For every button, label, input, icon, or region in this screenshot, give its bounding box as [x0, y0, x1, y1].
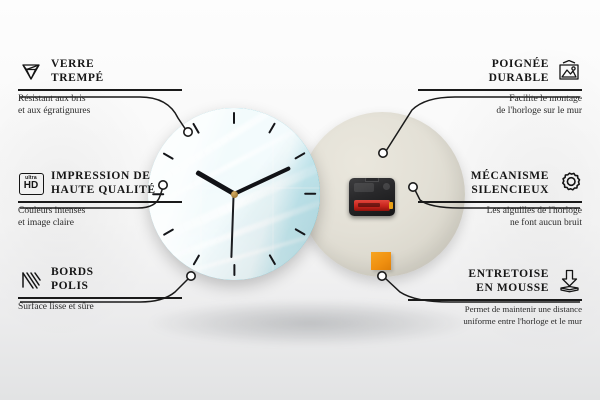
connector-dot-entretoise — [378, 272, 386, 280]
feature-title-line1: VERRE — [51, 58, 94, 70]
feature-divider — [18, 201, 182, 203]
feature-divider — [418, 89, 582, 91]
feature-poignee-durable: POIGNÉE DURABLE Facilite le montage de l… — [418, 58, 582, 117]
hd-badge: ultra HD — [19, 173, 44, 195]
feature-head: ENTRETOISE EN MOUSSE — [408, 268, 582, 295]
feature-divider — [408, 299, 582, 301]
connector-dot-bords-polis — [187, 272, 195, 280]
connector-dot-mecanisme — [409, 183, 417, 191]
diamond-icon — [18, 59, 44, 85]
feature-desc-line1: Facilite le montage — [509, 94, 582, 104]
gear-icon — [556, 171, 582, 197]
feature-divider — [18, 297, 182, 299]
feature-entretoise-en-mousse: ENTRETOISE EN MOUSSE Permet de maintenir… — [408, 268, 582, 327]
feature-title-line2: DURABLE — [489, 72, 549, 84]
feature-description: Couleurs intenses et image claire — [18, 206, 182, 229]
feature-title-line2: HAUTE QUALITÉ — [51, 184, 156, 196]
feature-description: Facilite le montage de l'horloge sur le … — [418, 94, 582, 117]
feature-title-line1: POIGNÉE — [492, 58, 549, 70]
picture-hanger-icon — [556, 59, 582, 85]
connector-dot-verre-trempe — [184, 128, 192, 136]
ultra-hd-badge-icon: ultra HD — [18, 171, 44, 197]
feature-desc-line2: et aux égratignures — [18, 106, 90, 116]
feature-desc-line1: Permet de maintenir une distance — [465, 304, 582, 314]
feature-title-line2: EN MOUSSE — [476, 282, 549, 294]
feature-desc-line1: Couleurs intenses — [18, 206, 85, 216]
hd-badge-main-label: HD — [24, 181, 38, 191]
feature-head: MÉCANISME SILENCIEUX — [418, 170, 582, 197]
feature-title: IMPRESSION DE HAUTE QUALITÉ — [51, 170, 156, 197]
feature-description: Surface lisse et sûre — [18, 302, 182, 314]
feature-title: MÉCANISME SILENCIEUX — [471, 170, 549, 197]
feature-head: VERRE TREMPÉ — [18, 58, 182, 85]
feature-title: BORDS POLIS — [51, 266, 94, 293]
feature-title: ENTRETOISE EN MOUSSE — [468, 268, 549, 295]
feature-desc-line1: Les aiguilles de l'horloge — [487, 206, 582, 216]
feature-head: POIGNÉE DURABLE — [418, 58, 582, 85]
feature-title-line1: ENTRETOISE — [468, 268, 549, 280]
feature-divider — [418, 201, 582, 203]
feature-mecanisme-silencieux: MÉCANISME SILENCIEUX Les aiguilles de l'… — [418, 170, 582, 229]
feature-desc-line2: de l'horloge sur le mur — [496, 106, 582, 116]
feature-description: Les aiguilles de l'horloge ne font aucun… — [418, 206, 582, 229]
feature-desc-line2: ne font aucun bruit — [510, 218, 582, 228]
foam-spacer-arrow-icon — [556, 269, 582, 295]
feature-title-line2: SILENCIEUX — [471, 184, 549, 196]
connector-dot-poignee — [379, 149, 387, 157]
feature-impression-haute-qualite: ultra HD IMPRESSION DE HAUTE QUALITÉ Cou… — [18, 170, 182, 229]
polished-edges-icon — [18, 267, 44, 293]
feature-title-line1: IMPRESSION DE — [51, 170, 151, 182]
feature-title-line1: BORDS — [51, 266, 94, 278]
feature-divider — [18, 89, 182, 91]
feature-description: Permet de maintenir une distance uniform… — [408, 304, 582, 327]
feature-title-line2: POLIS — [51, 280, 89, 292]
feature-verre-trempe: VERRE TREMPÉ Résistant aux bris et aux é… — [18, 58, 182, 117]
feature-bords-polis: BORDS POLIS Surface lisse et sûre — [18, 266, 182, 314]
feature-desc-line1: Résistant aux bris — [18, 94, 86, 104]
feature-description: Résistant aux bris et aux égratignures — [18, 94, 182, 117]
product-infographic: VERRE TREMPÉ Résistant aux bris et aux é… — [0, 0, 600, 400]
feature-title: VERRE TREMPÉ — [51, 58, 104, 85]
feature-desc-line2: uniforme entre l'horloge et le mur — [463, 316, 582, 326]
feature-title: POIGNÉE DURABLE — [489, 58, 549, 85]
feature-desc-line1: Surface lisse et sûre — [18, 302, 94, 312]
feature-title-line1: MÉCANISME — [471, 170, 549, 182]
feature-desc-line2: et image claire — [18, 218, 74, 228]
feature-head: ultra HD IMPRESSION DE HAUTE QUALITÉ — [18, 170, 182, 197]
feature-title-line2: TREMPÉ — [51, 72, 104, 84]
feature-head: BORDS POLIS — [18, 266, 182, 293]
